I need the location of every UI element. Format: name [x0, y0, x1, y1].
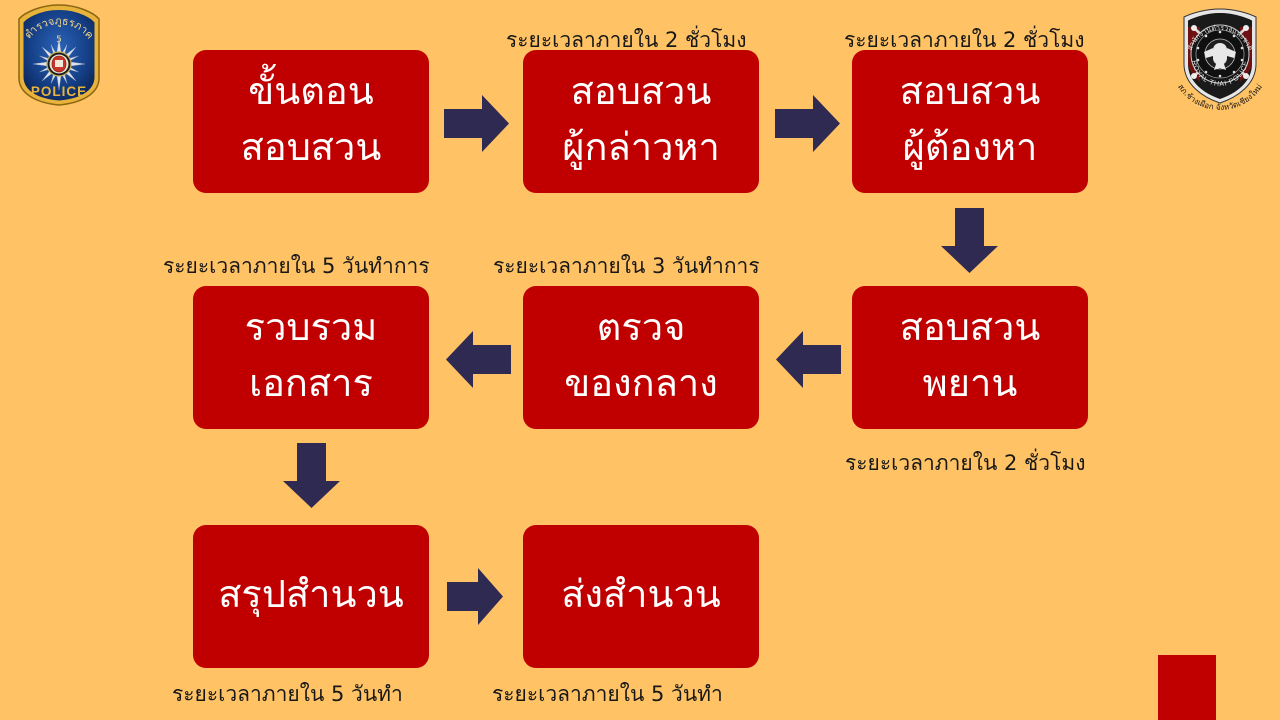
caption-step-4: ระยะเวลาภายใน 2 ชั่วโมง — [845, 453, 1085, 474]
step-box-4[interactable]: สอบสวน พยาน — [852, 286, 1088, 429]
step-box-8[interactable]: ส่งสำนวน — [523, 525, 759, 668]
arrow-step1-to-step2-right-icon — [444, 95, 509, 152]
step-1-line-2: สอบสวน — [241, 123, 382, 172]
step-6-line-2: เอกสาร — [249, 359, 373, 408]
caption-step-8: ระยะเวลาภายใน 5 วันทำ — [492, 684, 723, 705]
provincial-police-region-5-emblem: ตำรวจภูธรภาค 5 — [6, 2, 112, 108]
royal-thai-police-station-emblem: สภ.ช้างเผือก จังหวัดเชียงใหม่ สำนักงานตำ… — [1164, 2, 1276, 114]
step-box-5[interactable]: ตรวจ ของกลาง — [523, 286, 759, 429]
caption-step-7: ระยะเวลาภายใน 5 วันทำ — [172, 684, 403, 705]
decorative-red-block — [1158, 655, 1216, 720]
step-5-line-2: ของกลาง — [564, 359, 718, 408]
step-8-line-1: ส่งสำนวน — [561, 570, 721, 619]
arrow-step2-to-step3-right-icon — [775, 95, 840, 152]
svg-text:POLICE: POLICE — [31, 84, 87, 99]
step-3-line-1: สอบสวน — [900, 67, 1041, 116]
step-4-line-2: พยาน — [923, 359, 1018, 408]
caption-step-3: ระยะเวลาภายใน 2 ชั่วโมง — [844, 30, 1084, 51]
step-box-7[interactable]: สรุปสำนวน — [193, 525, 429, 668]
step-6-line-1: รวบรวม — [245, 303, 378, 352]
arrow-step5-to-step6-left-icon — [446, 331, 511, 388]
arrow-step4-to-step5-left-icon — [776, 331, 841, 388]
step-1-line-1: ขั้นตอน — [248, 67, 373, 116]
step-2-line-1: สอบสวน — [571, 67, 712, 116]
step-2-line-2: ผู้กล่าวหา — [562, 123, 720, 172]
caption-step-5: ระยะเวลาภายใน 3 วันทำการ — [493, 256, 760, 277]
arrow-step7-to-step8-right-icon — [447, 568, 503, 625]
step-7-line-1: สรุปสำนวน — [218, 570, 404, 619]
step-5-line-1: ตรวจ — [597, 303, 686, 352]
caption-step-6: ระยะเวลาภายใน 5 วันทำการ — [163, 256, 430, 277]
arrow-step3-to-step4-down-icon — [941, 208, 998, 273]
arrow-step6-to-step7-down-icon — [283, 443, 340, 508]
step-4-line-1: สอบสวน — [900, 303, 1041, 352]
step-box-6[interactable]: รวบรวม เอกสาร — [193, 286, 429, 429]
step-box-3[interactable]: สอบสวน ผู้ต้องหา — [852, 50, 1088, 193]
step-box-1[interactable]: ขั้นตอน สอบสวน — [193, 50, 429, 193]
step-3-line-2: ผู้ต้องหา — [903, 123, 1038, 172]
caption-step-2: ระยะเวลาภายใน 2 ชั่วโมง — [506, 30, 746, 51]
step-box-2[interactable]: สอบสวน ผู้กล่าวหา — [523, 50, 759, 193]
slide-canvas: ตำรวจภูธรภาค 5 — [0, 0, 1280, 720]
